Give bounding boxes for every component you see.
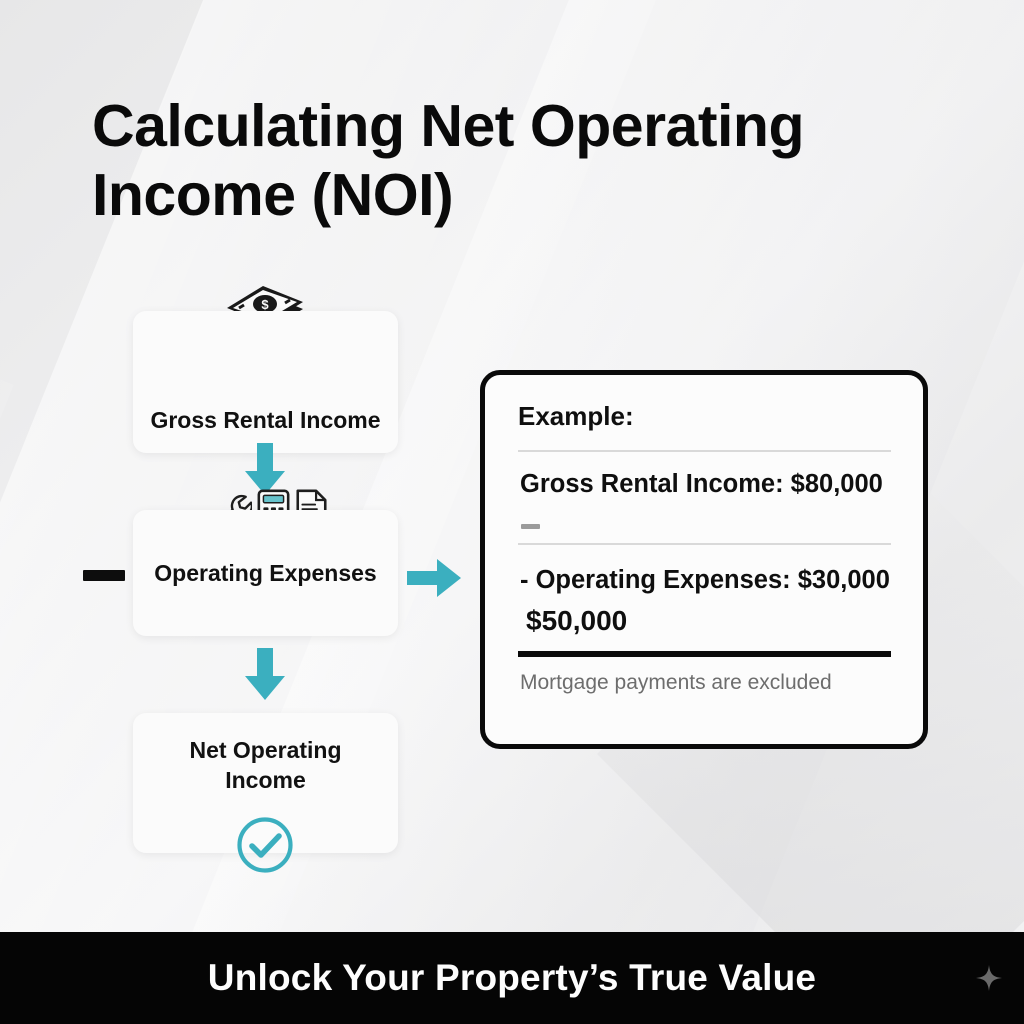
flow-step-label: Net Operating Income	[133, 735, 398, 796]
minus-operator-icon	[83, 570, 125, 581]
minus-marker-icon	[521, 524, 540, 529]
arrow-right-icon	[407, 555, 461, 601]
banner-tagline: Unlock Your Property’s True Value	[208, 957, 816, 999]
bottom-banner: Unlock Your Property’s True Value	[0, 932, 1024, 1024]
flow-step-label: Gross Rental Income	[136, 405, 394, 435]
arrow-down-icon	[243, 648, 287, 700]
sparkle-icon	[976, 965, 1002, 991]
example-result-line: $50,000	[518, 595, 895, 637]
example-card-heading: Example:	[518, 401, 895, 432]
example-gross-rental-income-line: Gross Rental Income: $80,000	[518, 452, 895, 509]
example-minus-marker-row	[518, 509, 895, 543]
infographic-canvas: Calculating Net Operating Income (NOI) $…	[0, 0, 1024, 1024]
flow-step-gross-rental-income[interactable]: Gross Rental Income	[133, 311, 398, 453]
example-card-note: Mortgage payments are excluded	[518, 657, 895, 695]
check-circle-icon	[236, 816, 294, 874]
page-title: Calculating Net Operating Income (NOI)	[92, 92, 892, 231]
example-card: Example: Gross Rental Income: $80,000 - …	[480, 370, 928, 749]
flow-step-operating-expenses[interactable]: Operating Expenses	[133, 510, 398, 636]
example-operating-expenses-line: - Operating Expenses: $30,000	[518, 545, 895, 595]
flow-step-label: Operating Expenses	[140, 558, 390, 588]
svg-text:$: $	[261, 297, 269, 312]
